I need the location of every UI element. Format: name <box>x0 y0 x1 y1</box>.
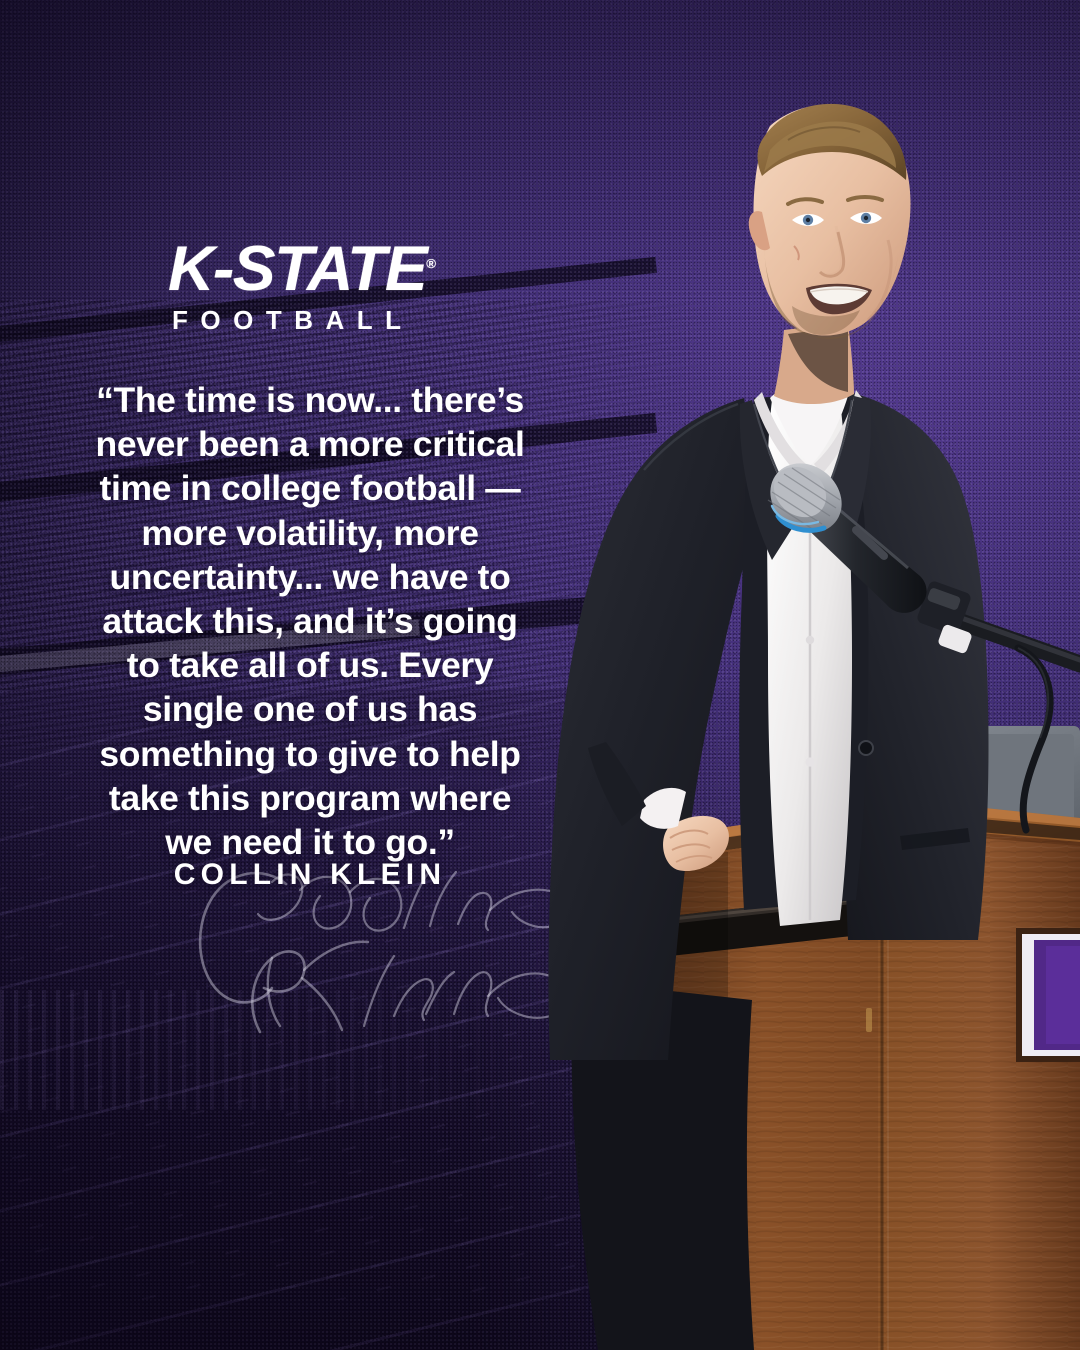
pull-quote: “The time is now... there’s never been a… <box>60 378 560 864</box>
k-state-football-logo: K-STATE® FOOTBALL <box>168 238 488 333</box>
quote-line: “The time is now... there’s <box>60 378 560 422</box>
attribution-block: COLLIN KLEIN <box>60 858 560 892</box>
person-name: COLLIN KLEIN <box>174 858 446 892</box>
podium-logo-plaque <box>1016 928 1080 1062</box>
quote-line: single one of us has <box>60 687 560 731</box>
subject-photo <box>548 0 1080 1350</box>
quote-line: more volatility, more <box>60 511 560 555</box>
quote-line: something to give to help <box>60 732 560 776</box>
quote-line: never been a more critical <box>60 422 560 466</box>
quote-line: to take all of us. Every <box>60 643 560 687</box>
quote-line: time in college football — <box>60 466 560 510</box>
logo-subtitle: FOOTBALL <box>168 307 488 333</box>
quote-line: uncertainty... we have to <box>60 555 560 599</box>
registered-trademark-icon: ® <box>426 256 436 271</box>
quote-line: attack this, and it’s going <box>60 599 560 643</box>
logo-wordmark-text: K-STATE <box>168 234 426 304</box>
logo-wordmark: K-STATE® <box>168 238 494 301</box>
graphic-canvas: K-STATE® FOOTBALL “The time is now... th… <box>0 0 1080 1350</box>
quote-line: take this program where <box>60 776 560 820</box>
